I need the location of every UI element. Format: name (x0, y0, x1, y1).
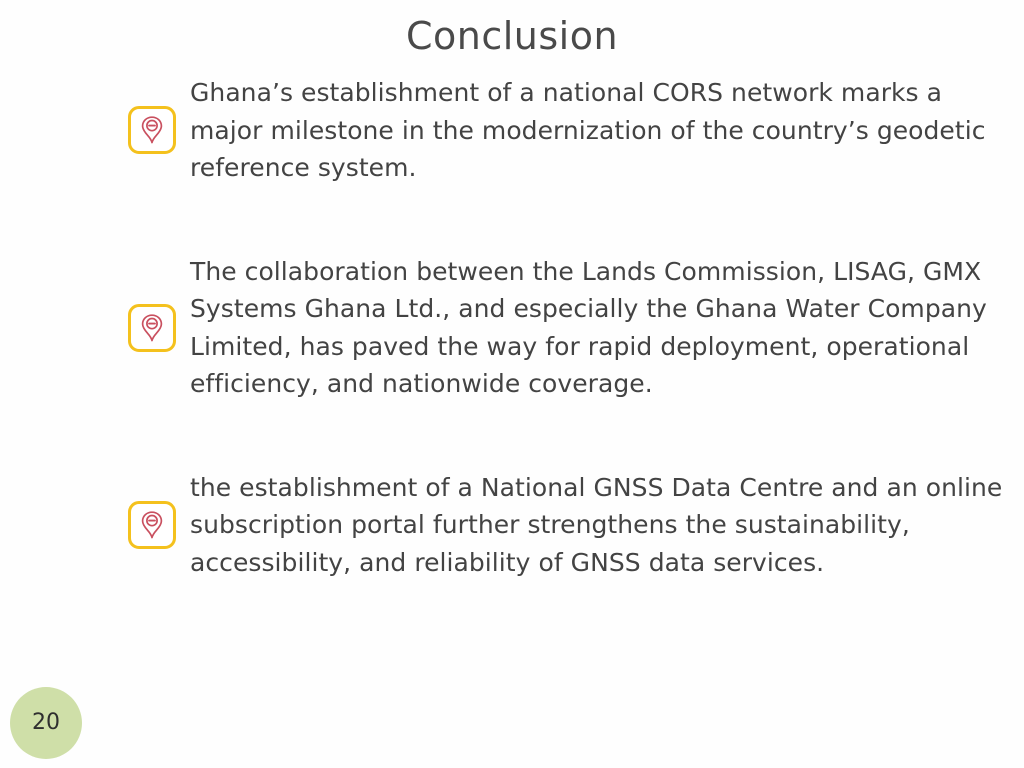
list-item-text: Ghana’s establishment of a national CORS… (190, 74, 1008, 187)
page-number-label: 20 (32, 712, 60, 734)
map-pin-minus-icon (128, 501, 176, 549)
map-pin-minus-icon (128, 304, 176, 352)
map-pin-minus-icon (128, 106, 176, 154)
page-title: Conclusion (0, 14, 1024, 60)
list-item-text: The collaboration between the Lands Comm… (190, 253, 1008, 403)
list-item-text: the establishment of a National GNSS Dat… (190, 469, 1008, 582)
slide-canvas: Conclusion Ghana’s establishment of a na… (0, 0, 1024, 768)
bullet-list: Ghana’s establishment of a national CORS… (128, 74, 1008, 581)
list-item: the establishment of a National GNSS Dat… (128, 469, 1008, 582)
page-number-badge: 20 (10, 687, 82, 759)
list-item: Ghana’s establishment of a national CORS… (128, 74, 1008, 187)
list-item: The collaboration between the Lands Comm… (128, 253, 1008, 403)
